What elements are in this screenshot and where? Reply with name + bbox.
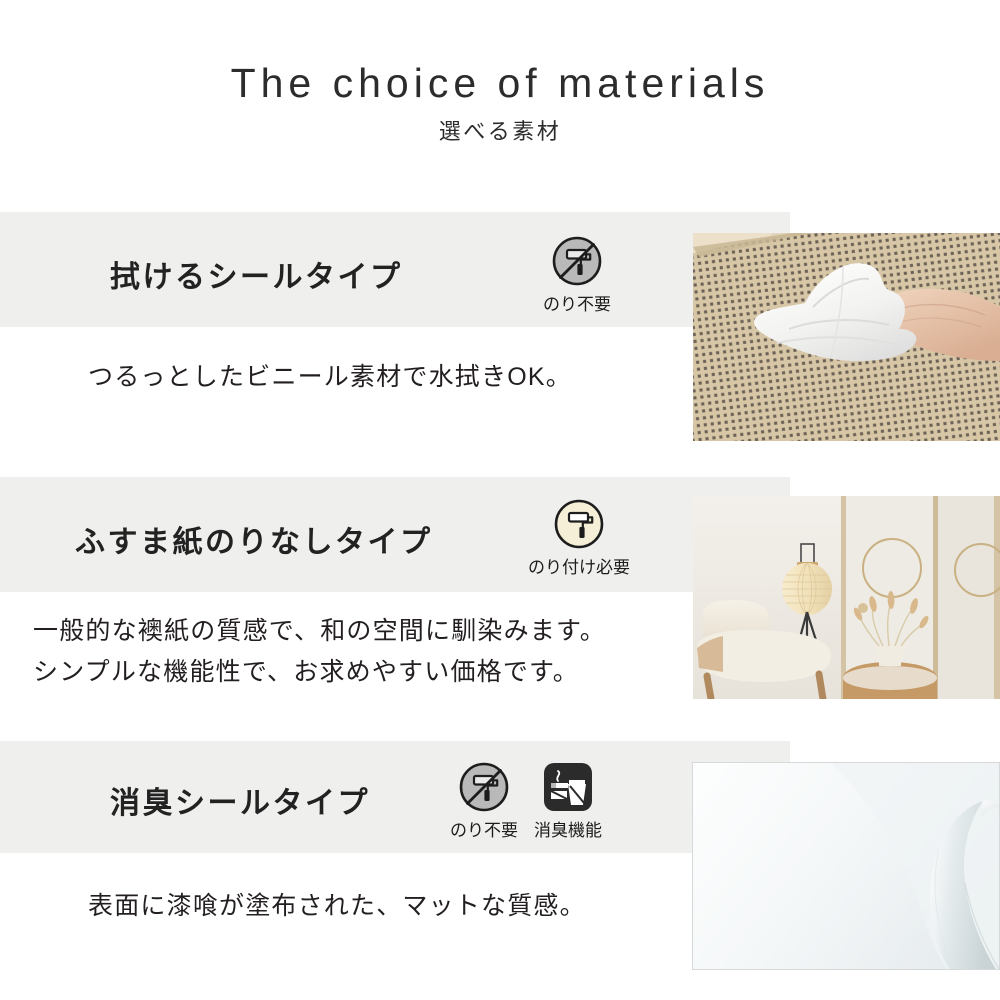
section-3-description: 表面に漆喰が塗布された、マットな質感。	[88, 887, 586, 925]
photo-content	[693, 233, 1000, 441]
section-3-title: 消臭シールタイプ	[110, 778, 370, 822]
section-3-badges: のり不要 消臭機能	[448, 761, 604, 841]
section-1-badges: のり不要	[541, 235, 613, 315]
badge-deodorizing: 消臭機能	[532, 761, 604, 841]
badge-no-glue: のり不要	[448, 761, 520, 841]
section-2-description-line-2: シンプルな機能性で、お求めやすい価格です。	[33, 653, 579, 691]
section-2-badges: のり付け必要	[520, 498, 638, 578]
section-1-title: 拭けるシールタイプ	[110, 252, 403, 296]
photo-wiping-rattan-surface	[693, 233, 1000, 441]
photo-illustration	[693, 233, 1000, 441]
badge-no-glue: のり不要	[541, 235, 613, 315]
page-subtitle: 選べる素材	[0, 114, 1000, 146]
photo-japanese-interior-fusuma	[693, 496, 1000, 699]
no-glue-roller-icon	[458, 761, 510, 813]
photo-illustration	[693, 763, 1000, 970]
badge-label: のり付け必要	[528, 553, 630, 578]
section-1-description: つるっとしたビニール素材で水拭きOK。	[88, 358, 572, 396]
photo-white-curling-sheet	[692, 762, 1000, 970]
badge-glue-required: のり付け必要	[520, 498, 638, 578]
glue-required-roller-icon	[553, 498, 605, 550]
photo-content	[693, 496, 1000, 699]
badge-label: のり不要	[450, 816, 518, 841]
no-glue-roller-icon	[551, 235, 603, 287]
badge-label: 消臭機能	[534, 816, 602, 841]
photo-content	[693, 763, 999, 969]
page-title: The choice of materials	[0, 60, 1000, 107]
photo-illustration	[693, 496, 1000, 699]
section-2-description-line-1: 一般的な襖紙の質感で、和の空間に馴染みます。	[33, 612, 606, 650]
deodorizing-function-icon	[542, 761, 594, 813]
section-2-title: ふすま紙のりなしタイプ	[75, 517, 433, 561]
badge-label: のり不要	[543, 290, 611, 315]
page-header: The choice of materials 選べる素材	[0, 0, 1000, 205]
